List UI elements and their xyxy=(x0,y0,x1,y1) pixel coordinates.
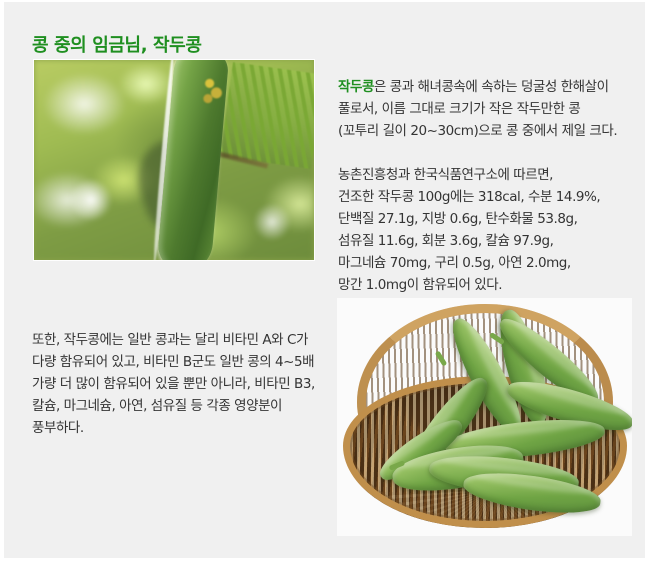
intro-paragraph-body: 은 콩과 해녀콩속에 속하는 덩굴성 한해살이 풀로서, 이름 그대로 크기가 … xyxy=(338,79,617,139)
pod-stem xyxy=(435,350,448,366)
highlight-term: 작두콩 xyxy=(338,79,374,95)
bokeh-highlight-left xyxy=(68,180,114,220)
yellow-flower-cluster xyxy=(196,72,230,110)
basket-photo xyxy=(337,298,632,536)
fern-leaf-shape xyxy=(220,62,314,169)
page-title: 콩 중의 임금님, 작두콩 xyxy=(32,31,201,57)
article-canvas: 콩 중의 임금님, 작두콩 작두콩은 콩과 해녀콩속에 속하는 덩굴성 한해살이… xyxy=(4,2,645,558)
vitamins-paragraph: 또한, 작두콩에는 일반 콩과는 달리 비타민 A와 C가 다량 함유되어 있고… xyxy=(32,329,324,439)
intro-paragraph: 작두콩은 콩과 해녀콩속에 속하는 덩굴성 한해살이 풀로서, 이름 그대로 크… xyxy=(338,76,638,142)
article-page: 콩 중의 임금님, 작두콩 작두콩은 콩과 해녀콩속에 속하는 덩굴성 한해살이… xyxy=(0,0,645,567)
nutrition-paragraph: 농촌진흥청과 한국식품연구소에 따르면, 건조한 작두콩 100g에는 318c… xyxy=(338,164,638,296)
bottom-left-text-column: 또한, 작두콩에는 일반 콩과는 달리 비타민 A와 C가 다량 함유되어 있고… xyxy=(32,315,324,452)
right-text-column: 작두콩은 콩과 해녀콩속에 속하는 덩굴성 한해살이 풀로서, 이름 그대로 크… xyxy=(338,62,638,309)
vine-photo xyxy=(34,60,314,260)
bokeh-highlight-right xyxy=(252,204,292,240)
bean-pods-group xyxy=(337,298,632,536)
